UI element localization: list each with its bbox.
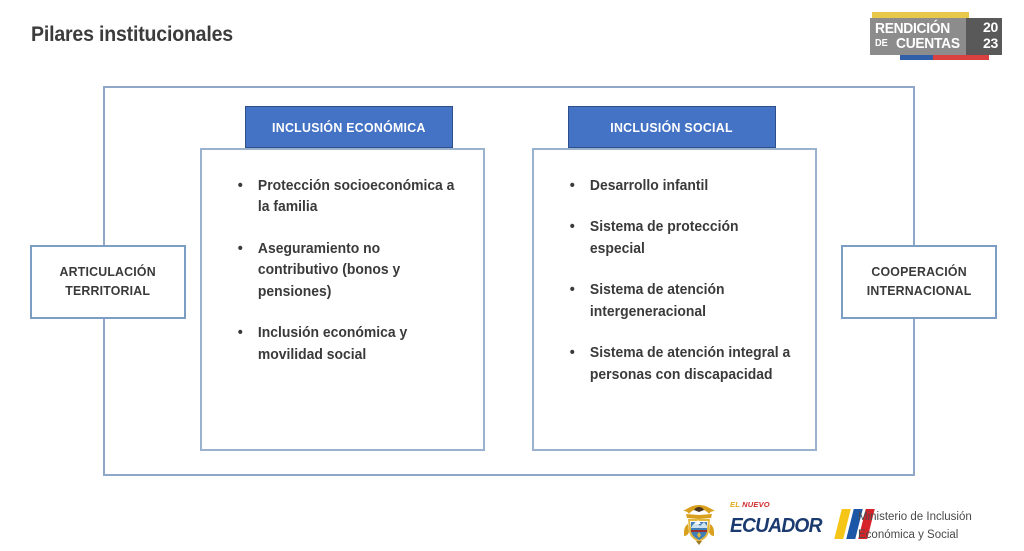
- side-box-line2: INTERNACIONAL: [867, 283, 972, 298]
- side-box-articulacion-territorial[interactable]: ARTICULACIÓNTERRITORIAL: [30, 245, 186, 319]
- side-box-line1: ARTICULACIÓN: [60, 264, 156, 279]
- side-box-label: ARTICULACIÓNTERRITORIAL: [60, 263, 156, 301]
- ecuador-coat-of-arms-icon: [678, 502, 720, 546]
- logo-text-de: DE: [875, 38, 888, 49]
- pillar-header-label: INCLUSIÓN ECONÓMICA: [272, 120, 426, 135]
- ecuador-wordmark: ECUADOR: [730, 506, 850, 542]
- side-box-label: COOPERACIÓNINTERNACIONAL: [867, 263, 972, 301]
- ministry-line2: Económica y Social: [858, 529, 958, 541]
- logo-year-bottom: 23: [983, 35, 998, 51]
- ecuador-text: ECUADOR: [730, 515, 822, 538]
- side-box-cooperacion-internacional[interactable]: COOPERACIÓNINTERNACIONAL: [841, 245, 997, 319]
- pillar-header-label: INCLUSIÓN SOCIAL: [611, 120, 734, 135]
- bullet-list-inclusion-economica: Protección socioeconómica a la familia A…: [232, 176, 472, 386]
- logo-year-top: 20: [983, 19, 998, 35]
- logo-red-stripe: [933, 55, 989, 60]
- page-title: Pilares institucionales: [31, 23, 233, 47]
- list-item: Protección socioeconómica a la familia: [232, 176, 462, 219]
- list-item: Sistema de protección especial: [564, 217, 794, 260]
- list-item: Sistema de atención intergeneracional: [564, 280, 794, 323]
- rendicion-cuentas-logo: RENDICIÓN DE CUENTAS 20 23: [870, 12, 1002, 62]
- list-item: Sistema de atención integral a personas …: [564, 343, 794, 386]
- list-item: Inclusión económica y movilidad social: [232, 323, 462, 366]
- logo-text-cuentas: CUENTAS: [896, 35, 960, 52]
- logo-blue-stripe: [900, 55, 933, 60]
- pillar-header-inclusion-economica[interactable]: INCLUSIÓN ECONÓMICA: [245, 106, 453, 148]
- bullet-list-inclusion-social: Desarrollo infantil Sistema de protecció…: [564, 176, 804, 406]
- ministry-label: Ministerio de Inclusión Económica y Soci…: [858, 509, 972, 545]
- pillar-header-inclusion-social[interactable]: INCLUSIÓN SOCIAL: [568, 106, 776, 148]
- list-item: Aseguramiento no contributivo (bonos y p…: [232, 239, 462, 303]
- ministry-line1: Ministerio de Inclusión: [858, 511, 972, 523]
- list-item: Desarrollo infantil: [564, 176, 794, 197]
- footer-branding: EL NUEVO ECUADOR Ministerio de Inclusión…: [678, 500, 1008, 548]
- side-box-line2: TERRITORIAL: [66, 283, 151, 298]
- side-box-line1: COOPERACIÓN: [871, 264, 966, 279]
